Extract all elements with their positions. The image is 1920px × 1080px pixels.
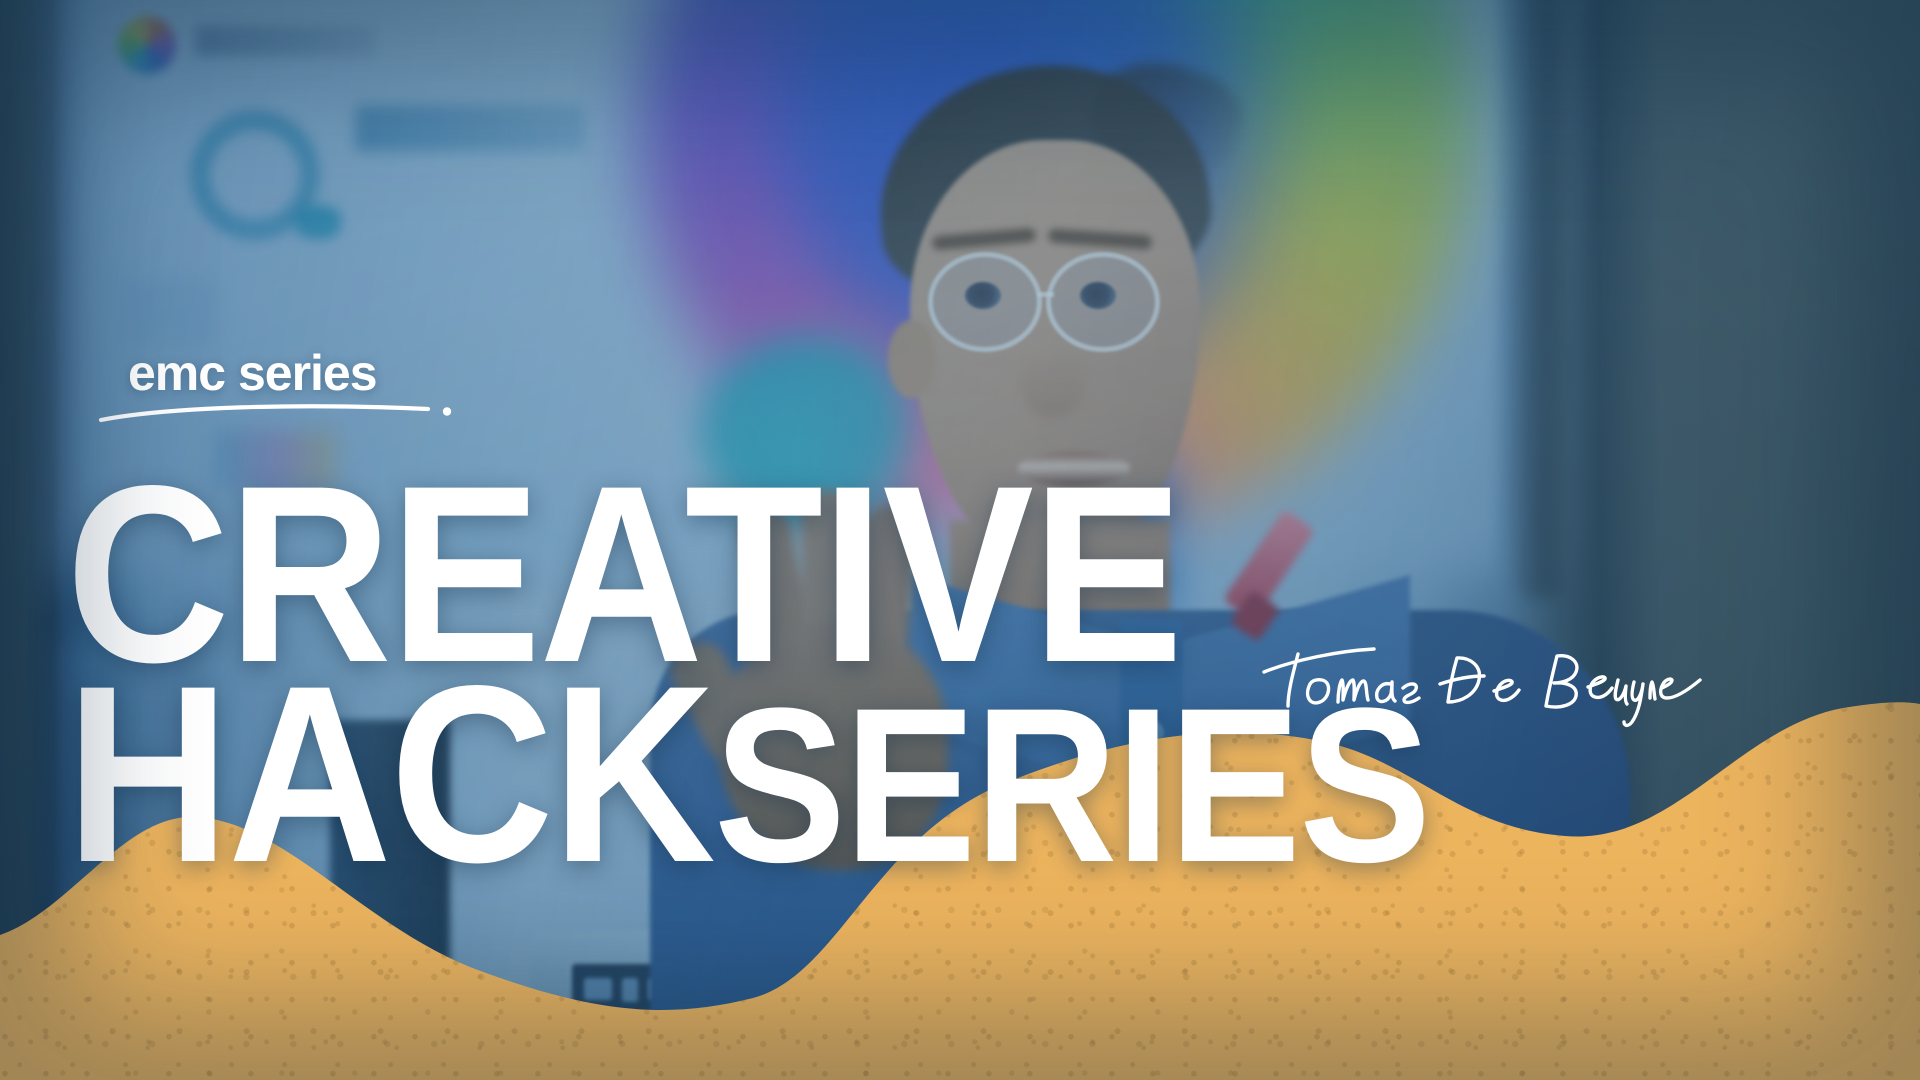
period-dot-icon <box>443 407 451 415</box>
title-card-canvas: emc series CREATIVE HACKSERIES <box>0 0 1920 1080</box>
swoosh-underline-icon <box>98 398 454 428</box>
brand-wordmark: emc series <box>128 344 377 402</box>
signature <box>1258 640 1658 730</box>
headline-line-two: HACKSERIES <box>66 674 1429 876</box>
headline-hack: HACK <box>66 634 714 915</box>
